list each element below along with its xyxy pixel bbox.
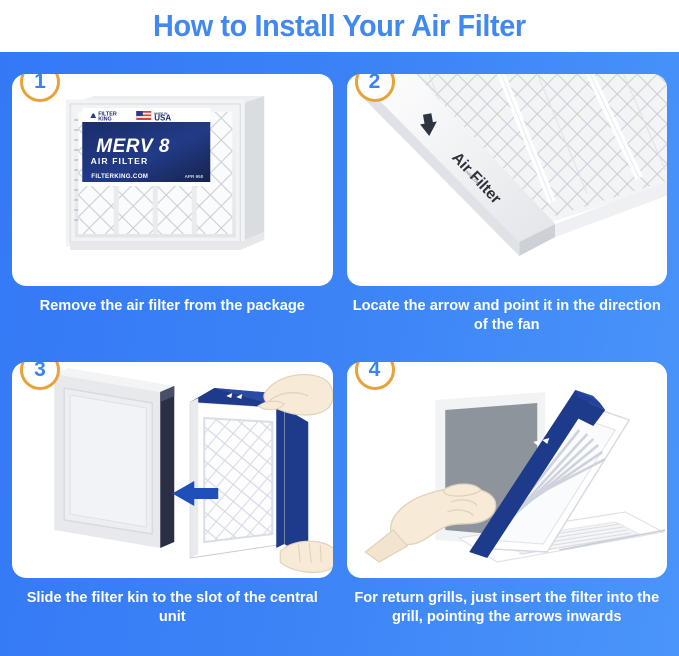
step-2-caption: Locate the arrow and point it in the dir… [347, 297, 668, 335]
step-4-card: 4 [347, 362, 668, 578]
svg-text:USA: USA [154, 114, 171, 123]
infographic-poster: How to Install Your Air Filter [0, 0, 679, 656]
step-3-card: 3 [12, 362, 333, 578]
insert-filter-into-return-grill-illustration [347, 362, 668, 578]
svg-text:MERV 8: MERV 8 [96, 136, 170, 157]
steps-grid: FILTER KING MADE IN USA [0, 52, 679, 656]
hand-lower-illustration [280, 541, 332, 572]
filter-corner-arrow-photo: Air Filter AIRFLOW [347, 74, 668, 286]
step-1-card: FILTER KING MADE IN USA [12, 74, 333, 286]
svg-text:KING: KING [98, 116, 111, 122]
step-1: FILTER KING MADE IN USA [12, 74, 333, 358]
slide-filter-into-unit-illustration [12, 362, 333, 578]
step-1-caption: Remove the air filter from the package [12, 297, 333, 316]
step-4-caption: For return grills, just insert the filte… [347, 589, 668, 627]
step-3: 3 Slide the filter kin to the slot of th… [12, 362, 333, 646]
step-3-caption: Slide the filter kin to the slot of the … [12, 589, 333, 627]
step-4: 4 For return grills, just insert the fil… [347, 362, 668, 646]
boxed-air-filter-photo: FILTER KING MADE IN USA [12, 74, 333, 286]
page-title: How to Install Your Air Filter [153, 10, 526, 42]
hand-upper-illustration [258, 375, 332, 415]
poster-header: How to Install Your Air Filter [0, 0, 679, 52]
svg-text:FILTERKING.COM: FILTERKING.COM [91, 173, 148, 180]
step-2: Air Filter AIRFLOW 2 Locate the arrow an… [347, 74, 668, 358]
step-2-card: Air Filter AIRFLOW 2 [347, 74, 668, 286]
svg-text:APR 650: APR 650 [185, 174, 204, 179]
svg-text:AIR FILTER: AIR FILTER [91, 156, 149, 166]
